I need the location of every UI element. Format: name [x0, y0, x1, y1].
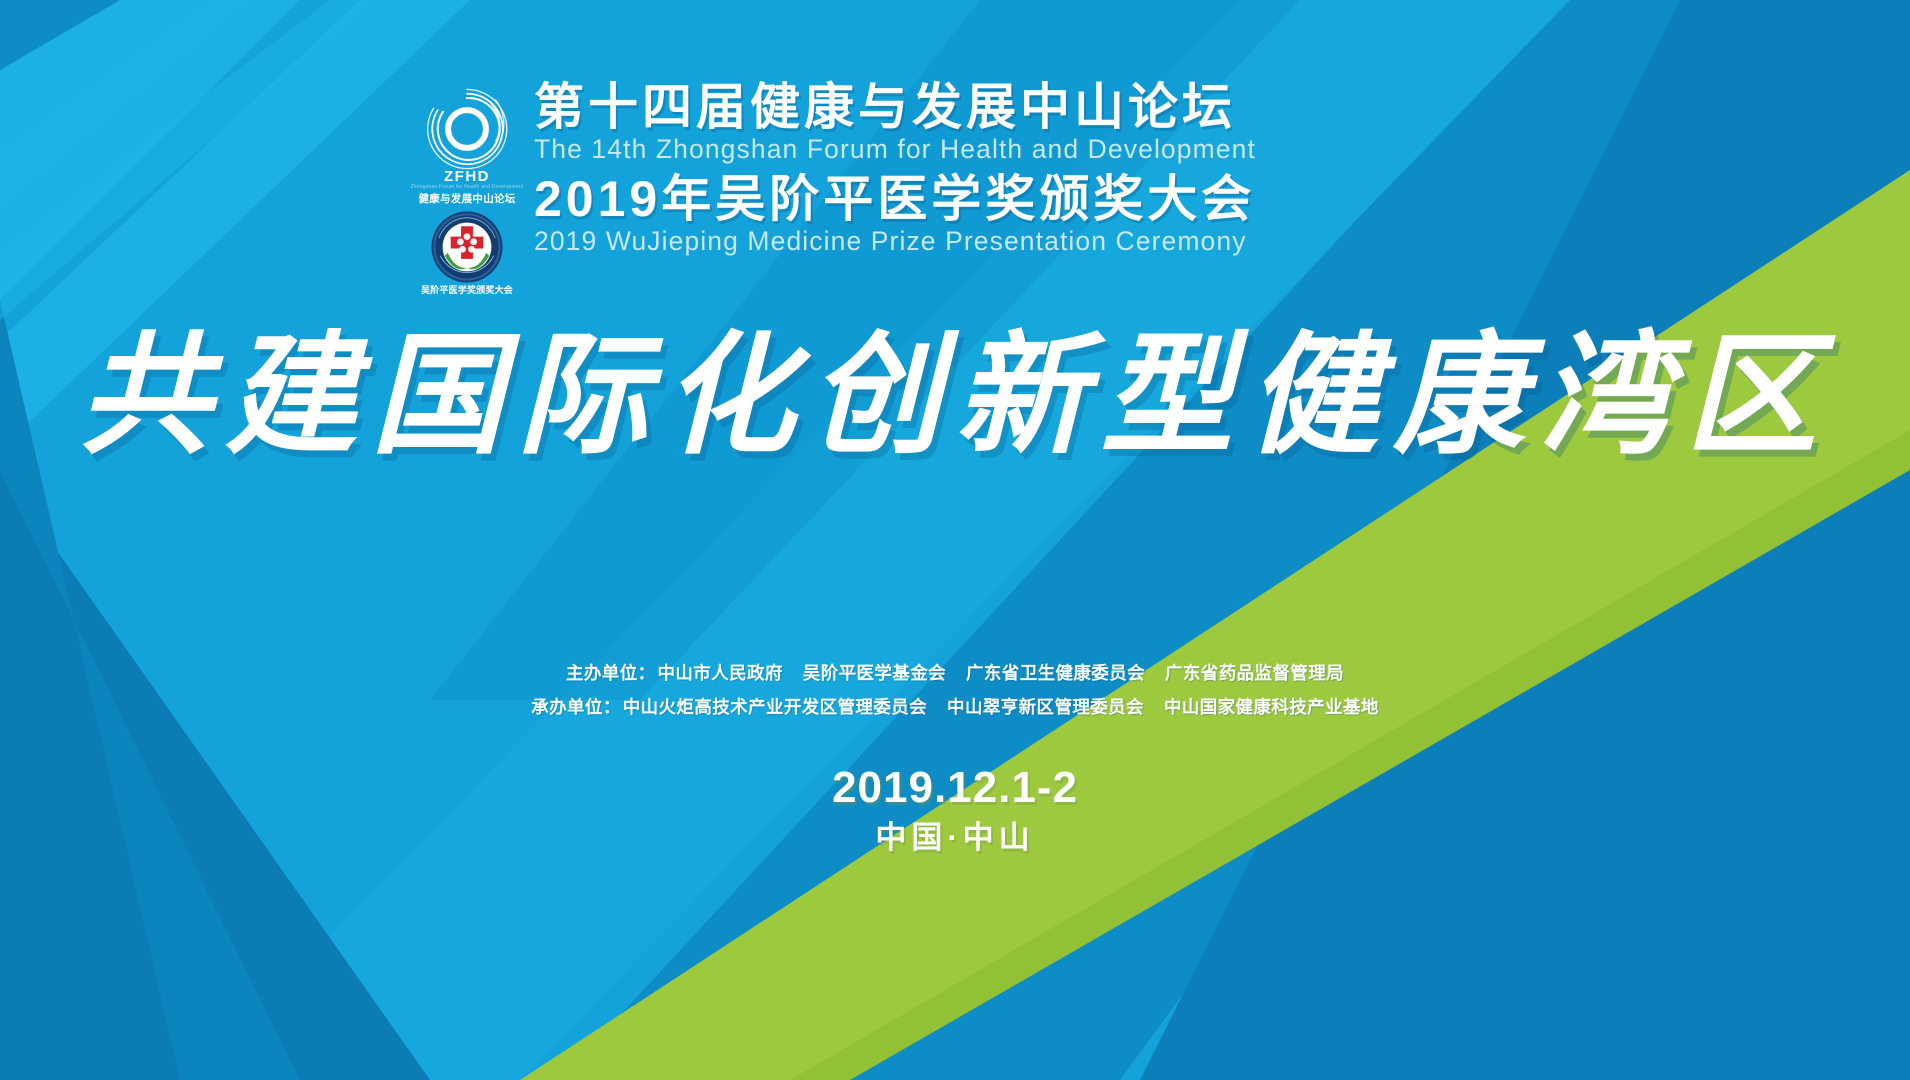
headline-prize-english: 2019 WuJieping Medicine Prize Presentati… — [534, 226, 1294, 256]
coorganizer-item: 中山翠亨新区管理委员会 — [947, 697, 1144, 717]
zfhd-forum-logo-icon — [424, 86, 510, 172]
title-column: 第十四届健康与发展中山论坛 The 14th Zhongshan Forum f… — [534, 78, 1294, 257]
zfhd-abbreviation: ZFHD — [408, 168, 526, 185]
zfhd-caption-english: Zhongshan Forum for Health and Developme… — [408, 184, 526, 190]
headline-forum-chinese: 第十四届健康与发展中山论坛 — [534, 82, 1294, 133]
main-slogan: 共建国际化创新型健康湾区 — [0, 330, 1910, 462]
host-organizer-item: 广东省卫生健康委员会 — [966, 663, 1145, 683]
coorganizer-item: 中山火炬高技术产业开发区管理委员会 — [623, 697, 927, 717]
headline-prize-chinese: 2019年吴阶平医学奖颁奖大会 — [534, 174, 1294, 225]
event-date: 2019.12.1-2 — [0, 763, 1910, 814]
wujieping-caption-chinese: 吴阶平医学奖颁奖大会 — [398, 283, 536, 296]
coorganizer-item: 中山国家健康科技产业基地 — [1164, 697, 1379, 717]
coorganizer-label: 承办单位： — [531, 697, 621, 717]
wujieping-prize-logo-icon — [430, 210, 504, 284]
header-block: ZFHD Zhongshan Forum for Health and Deve… — [408, 78, 1288, 278]
coorganizer-line: 承办单位：中山火炬高技术产业开发区管理委员会中山翠亨新区管理委员会中山国家健康科… — [0, 690, 1910, 724]
event-date-block: 2019.12.1-2 中国·中山 — [0, 763, 1910, 858]
host-organizer-label: 主办单位： — [566, 663, 656, 683]
host-organizer-item: 广东省药品监督管理局 — [1165, 663, 1344, 683]
zfhd-caption-chinese: 健康与发展中山论坛 — [408, 191, 526, 206]
headline-forum-english: The 14th Zhongshan Forum for Health and … — [534, 134, 1294, 164]
host-organizer-line: 主办单位：中山市人民政府吴阶平医学基金会广东省卫生健康委员会广东省药品监督管理局 — [0, 656, 1910, 690]
host-organizer-item: 中山市人民政府 — [657, 663, 782, 683]
logo-column: ZFHD Zhongshan Forum for Health and Deve… — [408, 78, 526, 278]
host-organizer-item: 吴阶平医学基金会 — [803, 663, 946, 683]
organizer-credits: 主办单位：中山市人民政府吴阶平医学基金会广东省卫生健康委员会广东省药品监督管理局… — [0, 656, 1910, 724]
event-location: 中国·中山 — [0, 818, 1910, 858]
conference-banner: ZFHD Zhongshan Forum for Health and Deve… — [0, 0, 1910, 1080]
